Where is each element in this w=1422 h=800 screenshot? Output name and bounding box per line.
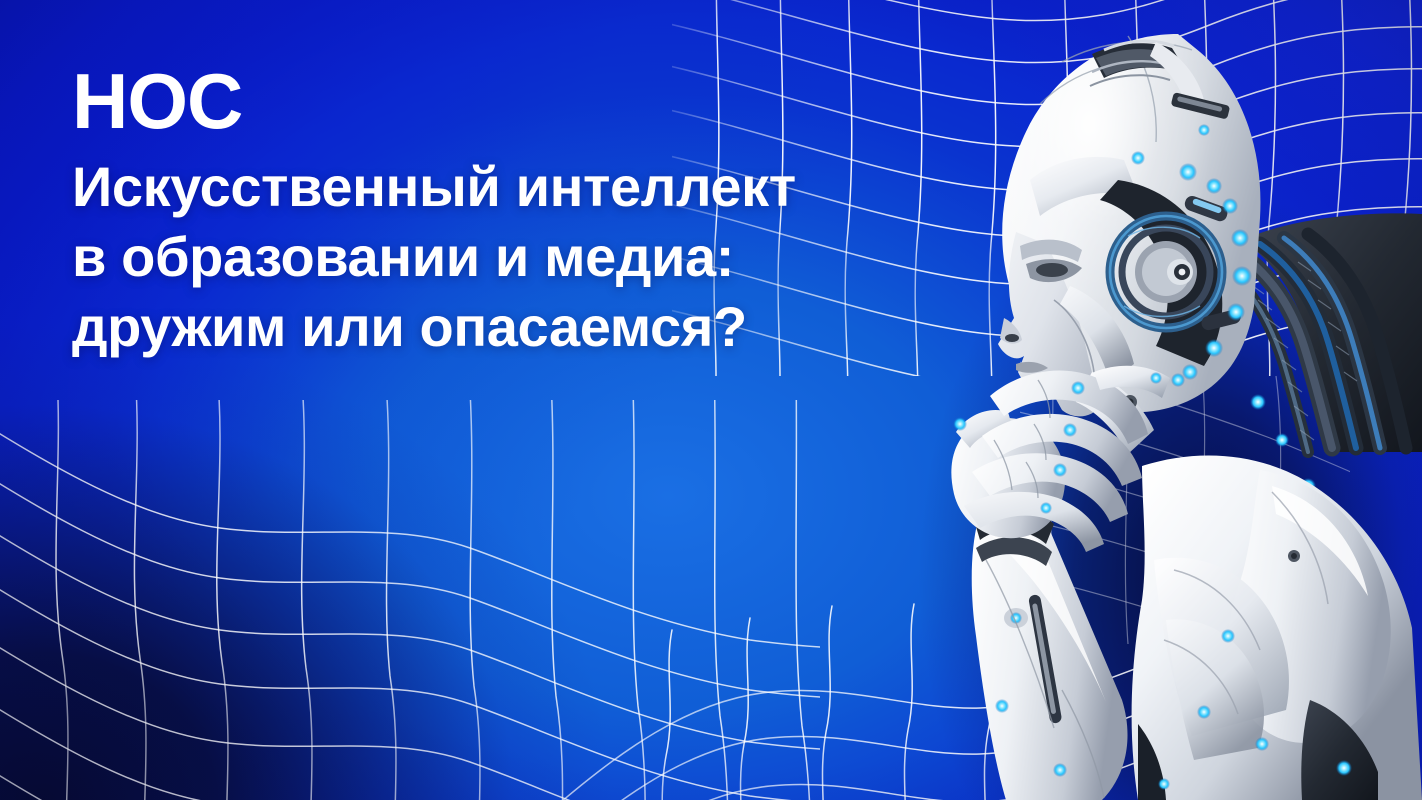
page-title: Искусственный интеллект в образовании и …	[72, 152, 972, 362]
brand-logo-text: НОС	[72, 58, 972, 144]
presentation-slide-banner: НОС Искусственный интеллект в образовани…	[0, 0, 1422, 800]
robot-torso	[1132, 455, 1422, 800]
headline-line-3: дружим или опасаемся?	[72, 292, 972, 362]
robot-illustration	[942, 0, 1422, 800]
headline-line-1: Искусственный интеллект	[72, 152, 972, 222]
robot-forearm	[972, 508, 1128, 800]
text-block: НОС Искусственный интеллект в образовани…	[72, 58, 972, 362]
headline-line-2: в образовании и медиа:	[72, 222, 972, 292]
